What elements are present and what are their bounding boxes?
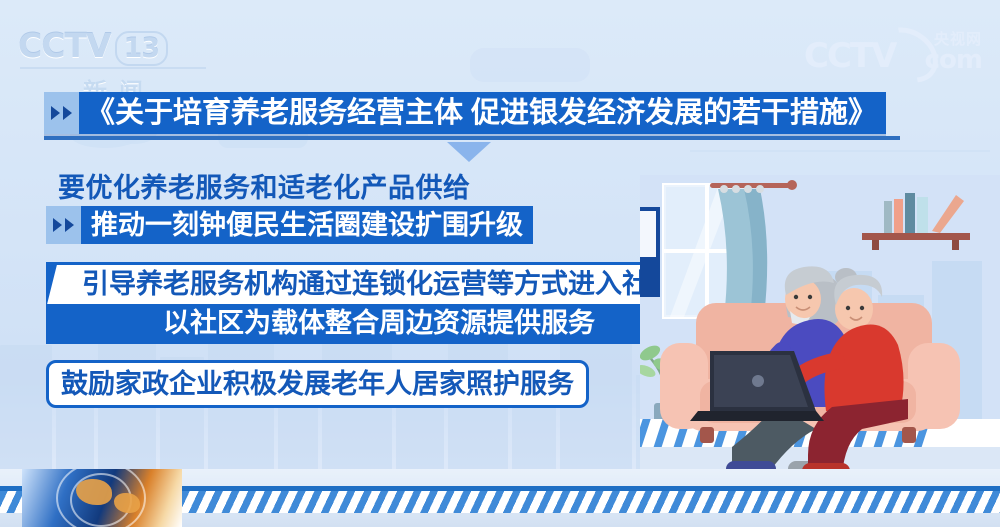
- illustration-elderly-couple: [640, 175, 1000, 475]
- headline-underline: [44, 136, 900, 140]
- broadcast-screen: CCTV13 新闻 CCTV 央视网 com 《关于培育养老服务经营主体 促进银…: [0, 0, 1000, 527]
- point-4-text: 鼓励家政企业积极发展老年人居家照护服务: [61, 366, 574, 402]
- point-2-text: 推动一刻钟便民生活圈建设扩围升级: [81, 206, 533, 244]
- cctv-channel-number: 13: [115, 31, 169, 66]
- lower-band: [0, 469, 1000, 527]
- globe-graphic: [22, 469, 182, 527]
- logo-rule: [20, 67, 206, 69]
- point-3-line1-row: 引导养老服务机构通过连锁化运营等方式进入社区: [46, 265, 712, 304]
- point-3-block: 引导养老服务机构通过连锁化运营等方式进入社区 以社区为载体整合周边资源提供服务: [46, 262, 712, 344]
- headline-banner: 《关于培育养老服务经营主体 促进银发经济发展的若干措施》: [44, 92, 886, 134]
- point-4-pill: 鼓励家政企业积极发展老年人居家照护服务: [46, 360, 589, 408]
- cctv-logo-text: CCTV: [18, 26, 111, 65]
- point-3-line1-text: 引导养老服务机构通过连锁化运营等方式进入社区: [46, 265, 712, 304]
- point-3-line2-text: 以社区为载体整合周边资源提供服务: [46, 305, 712, 342]
- watermark-domain-suffix: com: [925, 45, 982, 75]
- cctv13-logo: CCTV13 新闻: [18, 26, 208, 88]
- point-2-banner: 推动一刻钟便民生活圈建设扩围升级: [46, 206, 533, 244]
- cloud-shape: [470, 48, 590, 82]
- double-chevron-icon: [44, 92, 79, 134]
- headline-text: 《关于培育养老服务经营主体 促进银发经济发展的若干措施》: [79, 92, 886, 134]
- point-1-text: 要优化养老服务和适老化产品供给: [58, 166, 471, 205]
- double-chevron-icon: [46, 206, 81, 244]
- chevron-down-icon: [447, 142, 491, 162]
- cctv-com-watermark: CCTV 央视网 com: [804, 28, 984, 80]
